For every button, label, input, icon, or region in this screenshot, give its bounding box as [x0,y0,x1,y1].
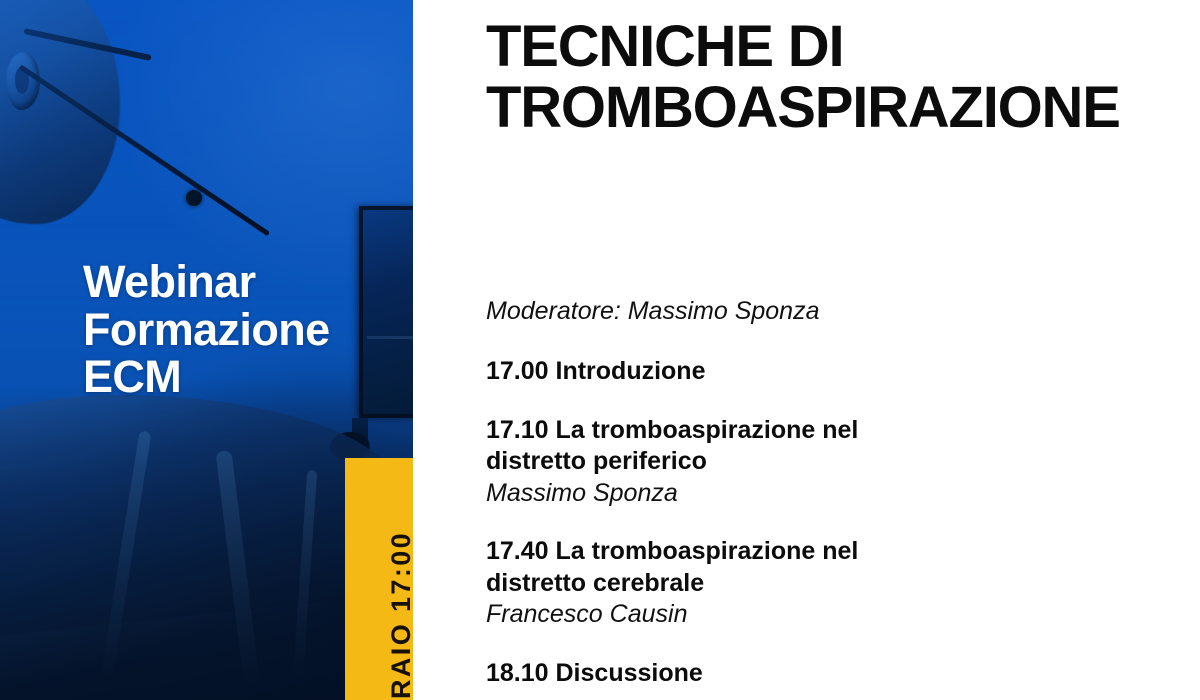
program-session: 17.00 Introduzione [486,356,1146,388]
page-title-line-2: TROMBOASPIRAZIONE [486,77,1186,138]
content-column: TECNICHE DI TROMBOASPIRAZIONE Moderatore… [486,0,1200,700]
panel-heading-line-1: Webinar [83,258,383,306]
session-speaker: Francesco Causin [486,599,1146,631]
session-title: 17.00 Introduzione [486,356,1146,388]
date-time-label: RAIO 17:00 [388,531,413,699]
session-title: 17.10 La tromboaspirazione nel [486,415,1146,447]
date-time-rotated-wrapper: RAIO 17:00 [345,458,413,700]
session-speaker: Massimo Sponza [486,478,1146,510]
panel-heading-line-3: ECM [83,353,383,401]
moderator-line: Moderatore: Massimo Sponza [486,296,1146,327]
session-title: 18.10 Discussione [486,658,1146,690]
program-session: 17.10 La tromboaspirazione nel distretto… [486,415,1146,510]
webinar-poster: Webinar Formazione ECM RAIO 17:00 TECNIC… [0,0,1200,700]
program-session: 18.10 Discussione [486,658,1146,690]
program-list: Moderatore: Massimo Sponza 17.00 Introdu… [486,296,1146,689]
panel-heading: Webinar Formazione ECM [83,258,383,401]
page-title-line-1: TECNICHE DI [486,16,1186,77]
session-title-line-2: distretto periferico [486,446,1146,478]
date-time-strip: RAIO 17:00 [345,458,413,700]
date-time-rotated-text: RAIO 17:00 [379,531,406,699]
panel-heading-line-2: Formazione [83,306,383,354]
session-title: 17.40 La tromboaspirazione nel [486,536,1146,568]
page-title: TECNICHE DI TROMBOASPIRAZIONE [486,16,1186,139]
program-session: 17.40 La tromboaspirazione nel distretto… [486,536,1146,631]
session-title-line-2: distretto cerebrale [486,568,1146,600]
